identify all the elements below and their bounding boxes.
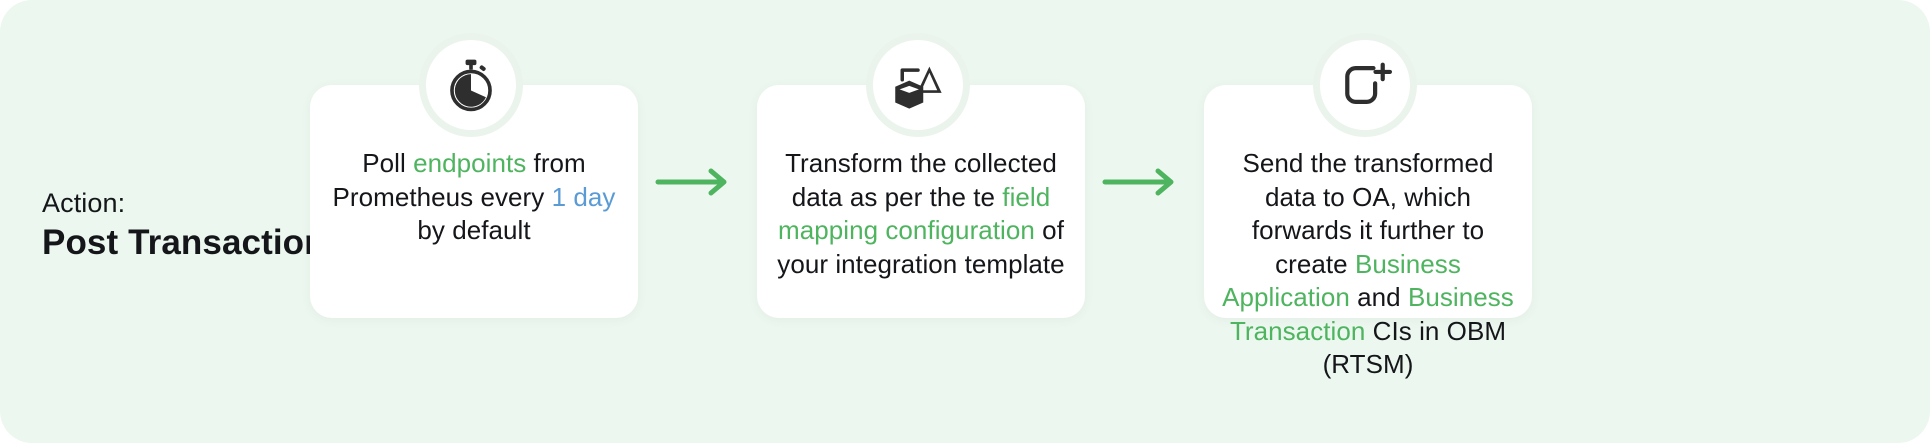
- shapes-transform-icon-badge: [866, 33, 970, 137]
- add-square-icon-badge: [1313, 33, 1417, 137]
- action-label-block: Action: Post Transactions: [42, 188, 342, 264]
- step-card-1-text: Poll endpoints from Prometheus every 1 d…: [328, 147, 620, 248]
- step-card-2-text: Transform the collected data as per the …: [775, 147, 1067, 281]
- action-kicker: Action:: [42, 188, 342, 220]
- add-square-icon: [1338, 58, 1392, 112]
- step-card-3-text: Send the transformed data to OA, which f…: [1222, 147, 1514, 382]
- flow-diagram-canvas: Action: Post Transactions Poll endpoints…: [0, 0, 1930, 443]
- arrow-step2-to-step3: [1102, 166, 1182, 198]
- shapes-transform-icon: [890, 57, 946, 113]
- action-title: Post Transactions: [42, 222, 342, 264]
- stopwatch-icon: [442, 56, 500, 114]
- arrow-step1-to-step2: [655, 166, 735, 198]
- stopwatch-icon-badge: [419, 33, 523, 137]
